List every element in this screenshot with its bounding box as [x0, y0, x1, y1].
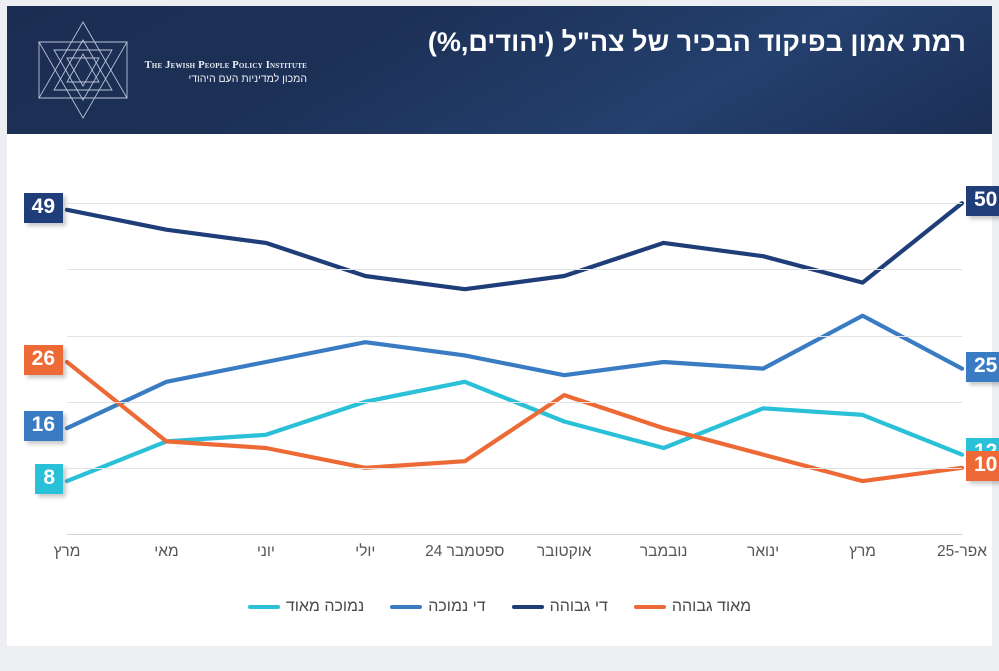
gridline	[67, 269, 962, 270]
value-label-left-די נמוכה: 16	[24, 411, 63, 441]
value-label-right-מאוד גבוהה: 10	[966, 451, 999, 481]
legend-item-מאוד גבוהה[interactable]: מאוד גבוהה	[634, 598, 751, 616]
chart-legend: נמוכה מאודדי נמוכהדי גבוההמאוד גבוהה	[7, 589, 992, 625]
value-label-left-די גבוהה: 49	[24, 193, 63, 223]
chart-card: 495016258122610 מרץמאייונייוליספטמבר 24א…	[7, 134, 992, 646]
legend-label: די גבוהה	[550, 598, 608, 616]
x-axis-tick: מאי	[118, 542, 214, 563]
gridline	[67, 468, 962, 469]
series-line-די גבוהה	[67, 203, 962, 289]
series-line-מאוד גבוהה	[67, 362, 962, 481]
value-label-right-די גבוהה: 50	[966, 186, 999, 216]
header-band: The Jewish People Policy Institute המכון…	[7, 6, 992, 134]
star-of-david-icon	[29, 16, 137, 124]
x-axis-tick: מרץ	[19, 542, 115, 563]
legend-item-די נמוכה[interactable]: די נמוכה	[390, 598, 485, 616]
gridline	[67, 203, 962, 204]
x-axis-tick: מרץ	[815, 542, 911, 563]
chart-page: The Jewish People Policy Institute המכון…	[0, 0, 999, 671]
x-axis-tick: ספטמבר 24	[417, 542, 513, 563]
series-line-נמוכה מאוד	[67, 382, 962, 481]
legend-swatch	[512, 605, 544, 609]
logo-english-name: The Jewish People Policy Institute	[137, 60, 307, 72]
logo-text-block: The Jewish People Policy Institute המכון…	[137, 60, 307, 85]
value-label-left-מאוד גבוהה: 26	[24, 345, 63, 375]
legend-swatch	[390, 605, 422, 609]
logo-hebrew-name: המכון למדיניות העם היהודי	[137, 73, 307, 85]
x-axis-line	[67, 534, 962, 535]
legend-label: נמוכה מאוד	[286, 598, 364, 616]
legend-item-נמוכה מאוד[interactable]: נמוכה מאוד	[248, 598, 364, 616]
value-label-right-די נמוכה: 25	[966, 352, 999, 382]
gridline	[67, 336, 962, 337]
legend-swatch	[634, 605, 666, 609]
x-axis-tick: ינואר	[715, 542, 811, 563]
x-axis-tick: יולי	[317, 542, 413, 563]
series-lines	[67, 190, 962, 534]
plot-area: 495016258122610	[67, 190, 962, 534]
legend-label: די נמוכה	[428, 598, 485, 616]
jppi-logo: The Jewish People Policy Institute המכון…	[29, 16, 299, 126]
x-axis-tick: יוני	[218, 542, 314, 563]
page-title: רמת אמון בפיקוד הבכיר של צה"ל (יהודים,%)	[326, 24, 966, 60]
legend-swatch	[248, 605, 280, 609]
legend-item-די גבוהה[interactable]: די גבוהה	[512, 598, 608, 616]
x-axis-tick: נובמבר	[616, 542, 712, 563]
value-label-left-נמוכה מאוד: 8	[35, 464, 63, 494]
x-axis-tick: אפר-25	[914, 542, 999, 563]
gridline	[67, 402, 962, 403]
x-axis-tick: אוקטובר	[516, 542, 612, 563]
legend-label: מאוד גבוהה	[672, 598, 751, 616]
